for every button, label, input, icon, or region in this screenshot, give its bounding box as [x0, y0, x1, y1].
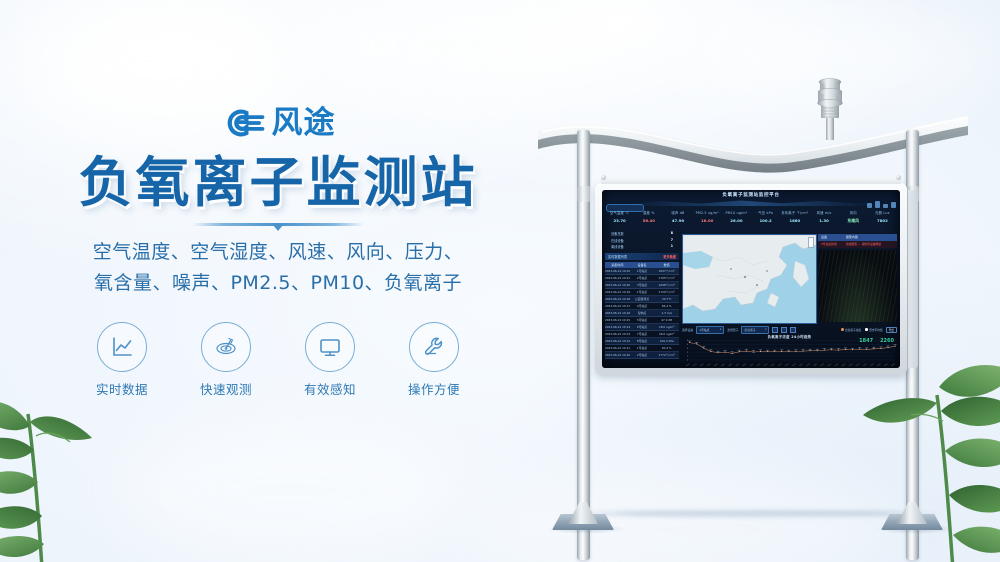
table-cell: 23.7℃	[654, 297, 679, 301]
table-cell: 2023-06-21 10:20:05	[605, 283, 630, 287]
table-cell: 1772个/cm³	[654, 353, 679, 357]
dashboard-title: 负氧离子监测站监控平台	[602, 192, 900, 198]
monitoring-station-unit: 负氧离子监测站监控平台 空气温度 ℃23.70湿度 %56.40噪声 dB47.…	[540, 70, 960, 530]
stat-label: 离线设备	[611, 244, 624, 249]
header-icon-group[interactable]	[867, 201, 896, 208]
alarm-cell: 离线报警 — 请检查设备网络	[846, 242, 881, 246]
display-frame: 负氧离子监测站监控平台 空气温度 ℃23.70湿度 %56.40噪声 dB47.…	[595, 183, 907, 375]
svg-text:23:55: 23:55	[891, 363, 896, 366]
feature-icon-circle	[97, 322, 147, 372]
table-cell: 7号站点	[630, 332, 655, 336]
svg-text:4: 4	[687, 348, 688, 350]
table-cell: 4号站点	[630, 304, 655, 308]
feature-item-realtime-data[interactable]: 实时数据	[83, 322, 161, 398]
brand-logo: 风途	[0, 100, 556, 146]
svg-text:11:00: 11:00	[763, 363, 768, 366]
svg-text:10:00: 10:00	[756, 363, 761, 366]
table-cell: 1765个/cm³	[654, 276, 679, 280]
table-row[interactable]: 2023-06-21 10:18:05公园监测点23.7℃	[605, 296, 679, 303]
svg-text:2: 2	[687, 352, 688, 354]
parameter-list: 空气温度、空气湿度、风速、风向、压力、 氧含量、噪声、PM2.5、PM10、负氧…	[0, 237, 556, 298]
base-cone	[897, 502, 927, 524]
table-cell: 2023-06-21 10:17:05	[605, 304, 630, 308]
svg-text:23:00: 23:00	[848, 363, 853, 366]
trend-chart[interactable]: 65421000:0001:0002:0003:0004:0005:0006:0…	[682, 339, 897, 366]
feature-item-effective-sensing[interactable]: 有效感知	[291, 322, 369, 398]
header-icon[interactable]	[867, 203, 872, 208]
view-mode-button[interactable]	[772, 327, 778, 333]
table-cell: 1号站点	[630, 290, 655, 294]
table-row[interactable]: 2023-06-21 10:15:055号站点47.9 dB	[605, 317, 679, 324]
table-row[interactable]: 2023-06-21 10:21:052号站点1765个/cm³	[605, 275, 679, 282]
svg-text:5: 5	[687, 344, 688, 346]
feature-label: 操作方便	[395, 379, 473, 398]
table-cell: 47.9 dB	[654, 318, 679, 322]
svg-text:02:00: 02:00	[700, 363, 705, 366]
base-plate-left	[552, 508, 614, 530]
legend-entry[interactable]: 历史平均值	[865, 328, 882, 332]
feature-label: 有效感知	[291, 379, 369, 398]
cloud-blob	[120, 420, 460, 560]
svg-text:13:00: 13:00	[778, 363, 783, 366]
kpi-label: 风向	[839, 212, 868, 216]
station-map[interactable]	[682, 234, 817, 324]
svg-text:23:30: 23:30	[870, 363, 875, 366]
wind-g-logo-icon	[221, 105, 265, 141]
kpi-item: 噪声 dB47.90	[663, 212, 692, 228]
svg-text:09:00: 09:00	[749, 363, 754, 366]
table-row[interactable]: 2023-06-21 10:14:056号站点18.0 ug/m³	[605, 324, 679, 331]
table-row[interactable]: 2023-06-21 10:17:054号站点56.4 %	[605, 303, 679, 310]
kpi-value: 47.90	[663, 219, 692, 223]
feature-label: 快速观测	[187, 379, 265, 398]
feature-icon-circle	[409, 322, 459, 372]
feature-list: 实时数据 快速观测	[0, 322, 556, 398]
kpi-label: 光照 Lux	[868, 212, 897, 216]
alarm-table-header: 设备报警内容	[818, 234, 897, 241]
header-icon[interactable]	[875, 201, 880, 208]
svg-text:1: 1	[687, 356, 688, 358]
table-title: 实时数据列表	[608, 254, 627, 259]
table-row[interactable]: 2023-06-21 10:19:051号站点1720个/cm³	[605, 289, 679, 296]
trend-chart-svg: 65421000:0001:0002:0003:0004:0005:0006:0…	[682, 339, 897, 366]
kpi-value: 18.00	[693, 219, 722, 223]
table-cell: 8号站点	[630, 339, 655, 343]
legend-label: 负氧离子浓度	[845, 328, 861, 332]
svg-text:22:00: 22:00	[841, 363, 846, 366]
table-cell: 2023-06-21 10:19:05	[605, 290, 630, 294]
feature-item-easy-operation[interactable]: 操作方便	[395, 322, 473, 398]
promo-banner: 风途 负氧离子监测站 空气温度、空气湿度、风速、风向、压力、 氧含量、噪声、PM…	[0, 0, 1000, 562]
table-cell: 湿地点	[630, 311, 655, 315]
post-collar-left	[577, 186, 590, 202]
svg-text:17:00: 17:00	[806, 363, 811, 366]
device-stat-row: 离线设备1	[605, 244, 679, 249]
header-icon[interactable]	[891, 202, 896, 208]
table-cell: 56.4 %	[654, 304, 679, 308]
kpi-value: 1860	[780, 219, 809, 223]
table-row[interactable]: 2023-06-21 10:20:053号站点1698个/cm³	[605, 282, 679, 289]
kpi-label: 负氧离子 个/cm³	[780, 212, 809, 216]
kpi-value: 1.30	[809, 219, 838, 223]
table-cell: 1720个/cm³	[654, 290, 679, 294]
feature-label: 实时数据	[83, 379, 161, 398]
table-cell: 1号站点	[630, 346, 655, 350]
svg-text:18:00: 18:00	[813, 363, 818, 366]
map-landmass	[683, 235, 816, 323]
table-cell: 20.9 %	[654, 346, 679, 350]
kpi-label: 空气温度 ℃	[605, 212, 634, 216]
kpi-item: PM2.5 ug/m³18.00	[693, 212, 722, 228]
svg-text:06:00: 06:00	[728, 363, 733, 366]
feature-icon-circle	[201, 322, 251, 372]
kpi-item: 风向东南风	[839, 212, 868, 228]
alarm-column-header: 报警内容	[846, 235, 858, 239]
kpi-item: 气压 kPa100.2	[751, 212, 780, 228]
table-cell: 2023-06-21 10:15:05	[605, 318, 630, 322]
kpi-item: 湿度 %56.40	[634, 212, 663, 228]
table-cell: 2023-06-21 10:14:05	[605, 325, 630, 329]
stat-value: 7	[671, 238, 673, 243]
legend-swatch	[841, 328, 844, 331]
table-cell: 2023-06-21 10:16:05	[605, 311, 630, 315]
alarm-row[interactable]: 3号站点掉线离线报警 — 请检查设备网络	[818, 241, 897, 248]
map-zoom-control[interactable]	[808, 237, 814, 248]
svg-text:08:00: 08:00	[742, 363, 747, 366]
factor-select-value: 负氧离子	[744, 328, 755, 332]
device-stat-row: 设备总数8	[605, 231, 679, 236]
chevron-down-icon: ▾	[765, 328, 766, 331]
svg-text:14:00: 14:00	[785, 363, 790, 366]
marketing-copy: 风途 负氧离子监测站 空气温度、空气湿度、风速、风向、压力、 氧含量、噪声、PM…	[0, 100, 556, 398]
alarm-cell: 3号站点掉线	[821, 242, 846, 246]
chart-toolbar: 选择设备 1号站点 ▾ 监测因子 负氧离子 ▾ 负氧离子浓	[682, 325, 897, 334]
display-side-bracket	[908, 190, 918, 368]
header-wave-decoration	[626, 199, 876, 206]
svg-text:15:00: 15:00	[792, 363, 797, 366]
table-row[interactable]: 2023-06-21 10:12:058号站点100.2 kPa	[605, 338, 679, 345]
page-title: 负氧离子监测站	[0, 154, 556, 212]
svg-text:23:40: 23:40	[877, 363, 882, 366]
device-select-value: 1号站点	[699, 328, 709, 332]
svg-text:12:00: 12:00	[771, 363, 776, 366]
table-column-header: 数值	[654, 263, 679, 267]
base-plate-right	[881, 508, 943, 530]
table-cell: 26.0 ug/m³	[654, 332, 679, 336]
svg-text:19:00: 19:00	[820, 363, 825, 366]
table-cell: 100.2 kPa	[654, 339, 679, 343]
kpi-label: PM2.5 ug/m³	[693, 212, 722, 216]
title-divider	[192, 223, 364, 226]
kpi-value: 100.2	[751, 219, 780, 223]
view-mode-button[interactable]	[781, 327, 787, 333]
table-cell: 3号站点	[630, 283, 655, 287]
kpi-label: 气压 kPa	[751, 212, 780, 216]
kpi-item: 光照 Lux7802	[868, 212, 897, 228]
dashboard-screen[interactable]: 负氧离子监测站监控平台 空气温度 ℃23.70湿度 %56.40噪声 dB47.…	[602, 190, 900, 368]
factor-select-label: 监测因子	[727, 328, 738, 332]
monitor-icon	[317, 334, 343, 360]
kpi-item: 空气温度 ℃23.70	[605, 212, 634, 228]
table-cell: 5号站点	[630, 318, 655, 322]
table-cell: 2023-06-21 10:13:05	[605, 332, 630, 336]
chevron-down-icon: ▾	[720, 328, 721, 331]
table-cell: 6号站点	[630, 325, 655, 329]
chart-legend: 负氧离子浓度历史平均值	[841, 328, 883, 332]
kpi-label: 噪声 dB	[663, 212, 692, 216]
export-button[interactable]: 导出	[886, 327, 897, 333]
table-cell: 1号站点	[630, 269, 655, 273]
legend-label: 历史平均值	[869, 328, 882, 332]
kpi-strip: 空气温度 ℃23.70湿度 %56.40噪声 dB47.90PM2.5 ug/m…	[605, 212, 897, 228]
svg-text:23:20: 23:20	[863, 363, 868, 366]
svg-text:16:00: 16:00	[799, 363, 804, 366]
kpi-value: 26.00	[722, 219, 751, 223]
radar-scan-icon	[213, 334, 239, 360]
kpi-value: 7802	[868, 219, 897, 223]
device-stat-row: 在线设备7	[605, 238, 679, 243]
table-cell: 2023-06-21 10:10:05	[605, 353, 630, 357]
table-row[interactable]: 2023-06-21 10:22:051号站点1847个/cm³	[605, 268, 679, 275]
table-row[interactable]: 2023-06-21 10:16:05湿地点1.3 m/s	[605, 310, 679, 317]
device-select-label: 选择设备	[682, 328, 693, 332]
device-select[interactable]: 1号站点 ▾	[696, 326, 724, 334]
line-chart-icon	[109, 334, 135, 360]
kpi-item: 风速 m/s1.30	[809, 212, 838, 228]
table-cell: 2号站点	[630, 276, 655, 280]
frame-bolt	[601, 175, 606, 180]
svg-text:23:50: 23:50	[884, 363, 889, 366]
parameter-line-2: 氧含量、噪声、PM2.5、PM10、负氧离子	[0, 268, 556, 298]
table-cell: 2023-06-21 10:22:05	[605, 269, 630, 273]
frame-bolt	[896, 175, 901, 180]
svg-text:00:00: 00:00	[686, 363, 691, 366]
table-cell: 2023-06-21 10:11:05	[605, 346, 630, 350]
alarm-column-header: 设备	[821, 235, 846, 239]
factor-select[interactable]: 负氧离子 ▾	[741, 326, 769, 334]
realtime-table-header: 实时数据列表 更多数据	[605, 253, 679, 260]
feature-item-fast-observation[interactable]: 快速观测	[187, 322, 265, 398]
svg-text:20:00: 20:00	[827, 363, 832, 366]
table-column-header: 采集时间	[605, 263, 630, 267]
table-row[interactable]: 2023-06-21 10:11:051号站点20.9 %	[605, 345, 679, 352]
parameter-line-1: 空气温度、空气湿度、风速、风向、压力、	[0, 237, 556, 267]
kpi-label: PM10 ug/m³	[722, 212, 751, 216]
kpi-value: 东南风	[839, 219, 868, 223]
table-body[interactable]: 2023-06-21 10:22:051号站点1847个/cm³2023-06-…	[605, 268, 679, 359]
table-cell: 2023-06-21 10:18:05	[605, 297, 630, 301]
svg-text:07:00: 07:00	[735, 363, 740, 366]
view-mode-button[interactable]	[790, 327, 796, 333]
legend-entry[interactable]: 负氧离子浓度	[841, 328, 861, 332]
camera-feed[interactable]	[818, 250, 897, 322]
table-cell: 2023-06-21 10:21:05	[605, 276, 630, 280]
kpi-value: 56.40	[634, 219, 663, 223]
wrench-icon	[421, 334, 447, 360]
kpi-value: 23.70	[605, 219, 634, 223]
svg-text:23:10: 23:10	[856, 363, 861, 366]
stat-label: 在线设备	[611, 238, 624, 243]
svg-text:6: 6	[687, 340, 688, 342]
table-row[interactable]: 2023-06-21 10:13:057号站点26.0 ug/m³	[605, 331, 679, 338]
table-cell: 1847个/cm³	[654, 269, 679, 273]
svg-text:21:00: 21:00	[834, 363, 839, 366]
kpi-label: 风速 m/s	[809, 212, 838, 216]
table-cell: 公园监测点	[630, 297, 655, 301]
svg-text:04:00: 04:00	[714, 363, 719, 366]
table-cell: 2023-06-21 10:12:05	[605, 339, 630, 343]
svg-text:01:00: 01:00	[693, 363, 698, 366]
table-column-header: 设备名	[630, 263, 655, 267]
table-cell: 1698个/cm³	[654, 283, 679, 287]
left-panel: 设备总数8在线设备7离线设备1 实时数据列表 更多数据 采集时间设备名数值 20…	[605, 231, 679, 365]
alarm-rows[interactable]: 3号站点掉线离线报警 — 请检查设备网络	[818, 241, 897, 248]
table-badge[interactable]: 更多数据	[663, 254, 676, 259]
kpi-item: 负氧离子 个/cm³1860	[780, 212, 809, 228]
feature-icon-circle	[305, 322, 355, 372]
right-panel: 设备报警内容 3号站点掉线离线报警 — 请检查设备网络	[818, 234, 897, 322]
header-icon[interactable]	[883, 204, 888, 208]
stat-label: 设备总数	[611, 231, 624, 236]
brand-name: 风途	[272, 108, 336, 139]
svg-text:0: 0	[687, 360, 688, 362]
kpi-item: PM10 ug/m³26.00	[722, 212, 751, 228]
legend-swatch	[865, 328, 868, 331]
table-cell: 18.0 ug/m³	[654, 325, 679, 329]
stat-value: 8	[671, 231, 673, 236]
device-stats: 设备总数8在线设备7离线设备1	[605, 231, 679, 249]
svg-text:03:00: 03:00	[707, 363, 712, 366]
table-row[interactable]: 2023-06-21 10:10:052号站点1772个/cm³	[605, 352, 679, 359]
kpi-label: 湿度 %	[634, 212, 663, 216]
svg-text:05:00: 05:00	[721, 363, 726, 366]
table-cell: 1.3 m/s	[654, 311, 679, 315]
dashboard: 负氧离子监测站监控平台 空气温度 ℃23.70湿度 %56.40噪声 dB47.…	[602, 190, 900, 368]
table-cell: 2号站点	[630, 353, 655, 357]
stat-value: 1	[671, 244, 673, 249]
base-cone	[568, 502, 598, 524]
